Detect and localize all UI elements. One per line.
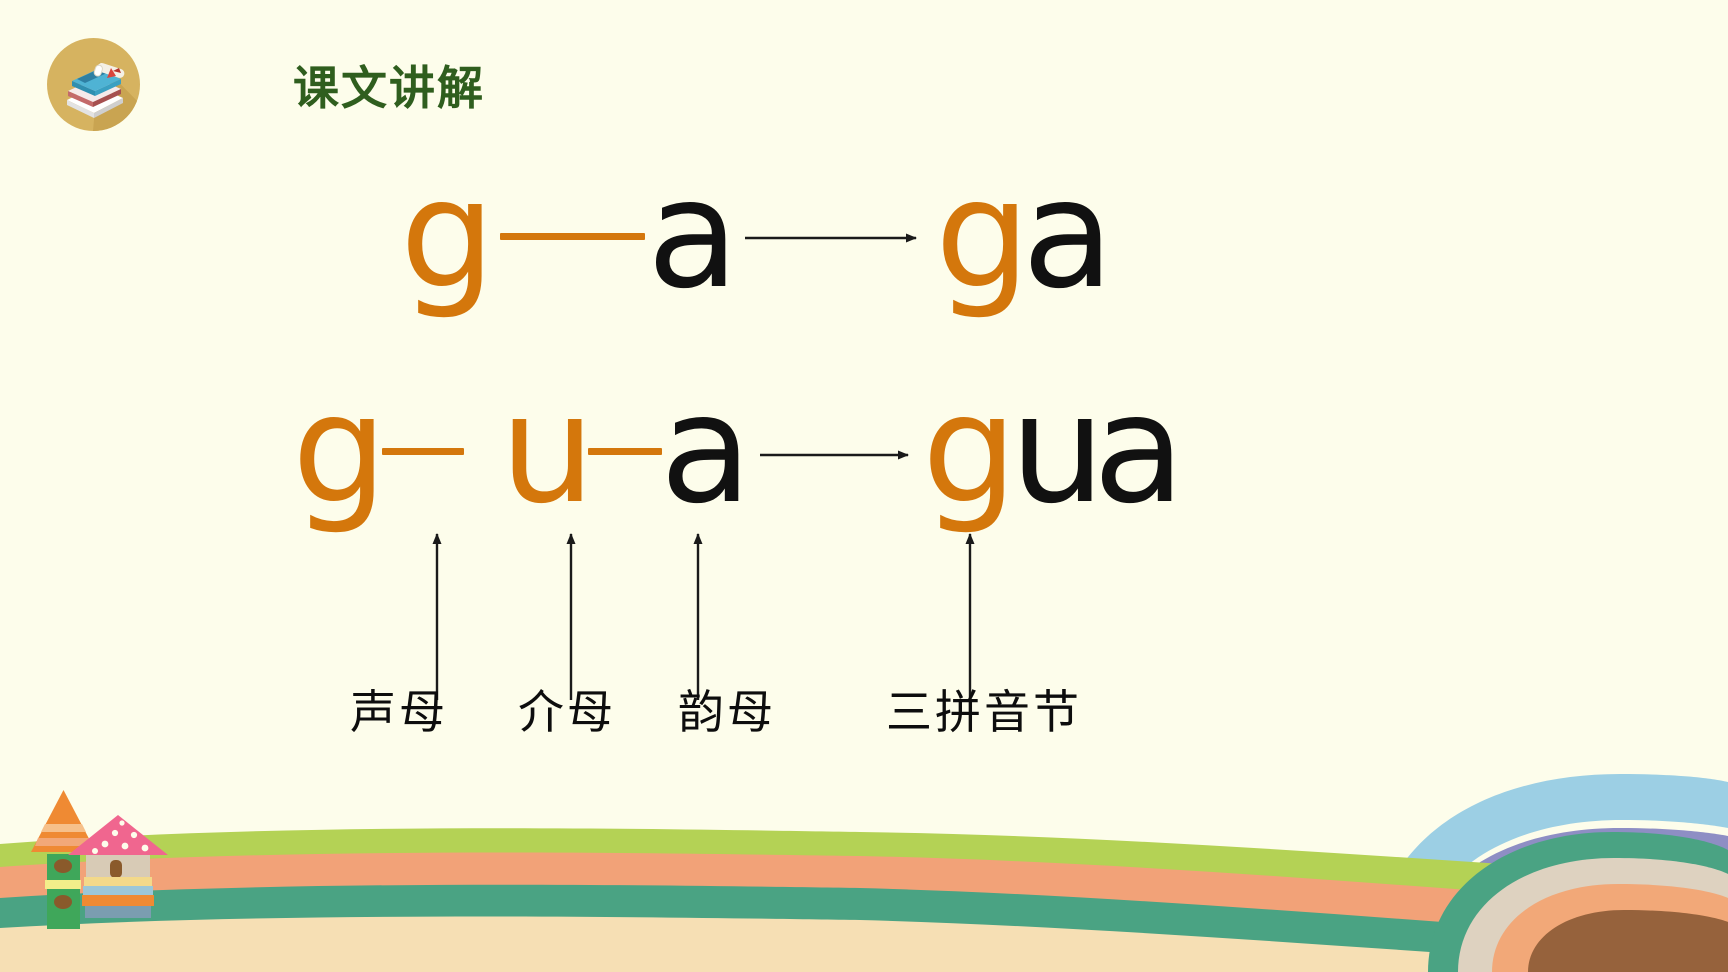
row2-final-a: a bbox=[660, 375, 752, 525]
row1-result-a: a bbox=[1022, 160, 1114, 310]
bottom-scenery-decoration bbox=[0, 712, 1728, 972]
row2-connector-dash-1 bbox=[382, 448, 464, 455]
row1-connector-dash-1 bbox=[500, 233, 645, 240]
syllable-row-ga: g a g a bbox=[0, 160, 1728, 320]
row2-medial-u: u bbox=[500, 375, 595, 525]
row2-initial-g: g bbox=[292, 375, 387, 525]
row1-result-g: g bbox=[935, 160, 1030, 310]
syllable-row-gua: g u a g u a bbox=[0, 375, 1728, 535]
row1-final-a: a bbox=[647, 160, 739, 310]
books-stack-icon bbox=[47, 38, 140, 131]
row2-result-u: u bbox=[1010, 375, 1105, 525]
slide-canvas: 课文讲解 g a g a g u a g u a bbox=[0, 0, 1728, 972]
row2-result-g: g bbox=[922, 375, 1017, 525]
row1-initial-g: g bbox=[400, 160, 495, 310]
page-title: 课文讲解 bbox=[293, 52, 485, 118]
row2-result-a: a bbox=[1093, 375, 1185, 525]
row2-connector-dash-2 bbox=[588, 448, 662, 455]
